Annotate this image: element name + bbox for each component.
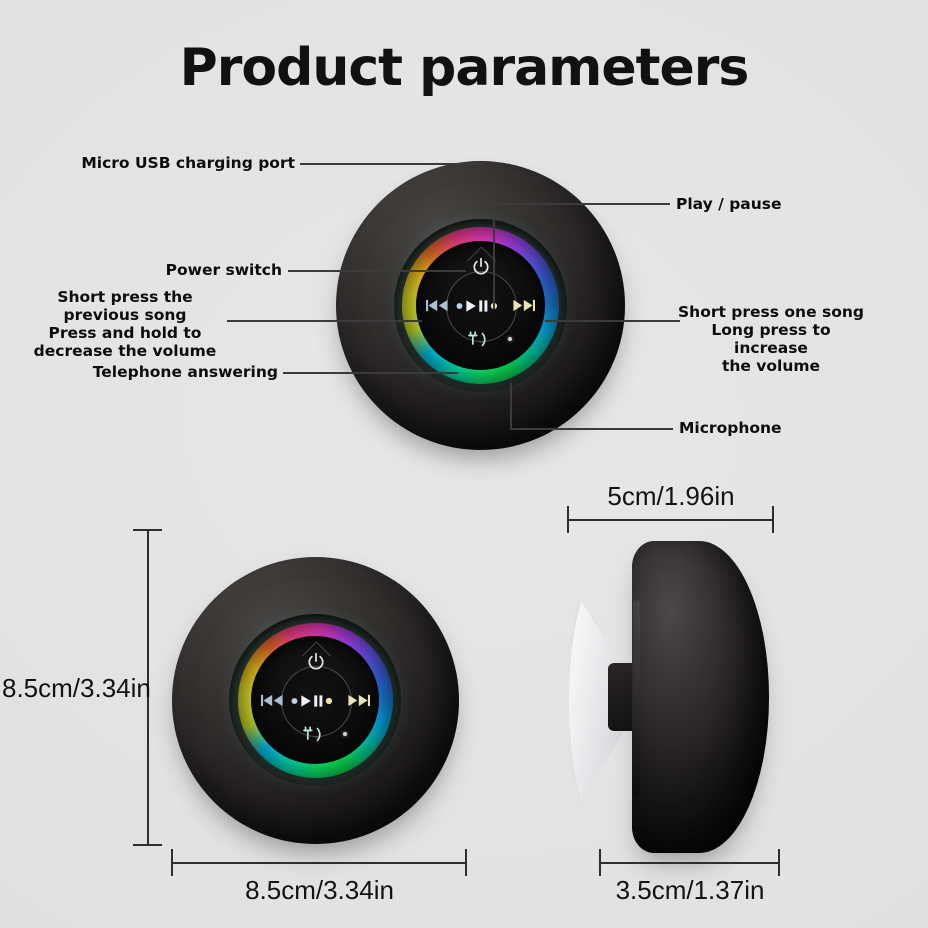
infographic-canvas: Product parameters — [0, 0, 928, 928]
callout-microphone: Microphone — [679, 419, 859, 437]
previous-track-icon[interactable] — [425, 295, 451, 316]
leader-previous-song — [227, 320, 422, 322]
speaker-front-bottom — [172, 557, 459, 844]
leader-power-switch — [288, 270, 466, 272]
dimension-cap-side-depth-left — [599, 849, 601, 876]
dimension-label-side-height: 5cm/1.96in — [568, 481, 774, 512]
previous-track-icon-bottom[interactable] — [260, 690, 286, 711]
callout-play-pause: Play / pause — [676, 195, 876, 213]
leader-next-song — [545, 320, 680, 322]
power-icon[interactable] — [467, 253, 494, 280]
dimension-cap-front-height-top — [133, 529, 162, 531]
dimension-label-front-width: 8.5cm/3.34in — [172, 875, 467, 906]
leader-micro-usb — [300, 163, 485, 165]
callout-power-switch: Power switch — [30, 261, 282, 279]
dimension-cap-front-width-left — [171, 849, 173, 876]
next-track-icon[interactable] — [510, 295, 536, 316]
dimension-cap-front-height-bottom — [133, 844, 162, 846]
answer-call-icon[interactable] — [464, 327, 498, 351]
callout-micro-usb: Micro USB charging port — [30, 154, 295, 172]
callout-previous-song: Short press the previous song Press and … — [25, 288, 225, 361]
callout-telephone-answering: Telephone answering — [30, 363, 278, 381]
dimension-cap-side-depth-right — [778, 849, 780, 876]
play-pause-icon[interactable] — [454, 297, 507, 314]
dimension-line-side-height — [568, 519, 774, 521]
leader-microphone-v — [510, 383, 512, 428]
dimension-line-side-depth — [600, 862, 780, 864]
leader-telephone — [283, 372, 458, 374]
dimension-label-front-height: 8.5cm/3.34in — [2, 673, 151, 704]
leader-microphone-h — [510, 428, 673, 430]
speaker-side-body — [632, 541, 769, 853]
leader-play-pause-v — [493, 203, 495, 309]
answer-call-icon-bottom[interactable] — [299, 722, 333, 746]
dimension-line-front-width — [172, 862, 467, 864]
next-track-icon-bottom[interactable] — [345, 690, 371, 711]
page-title: Product parameters — [0, 40, 928, 97]
dimension-label-side-depth: 3.5cm/1.37in — [600, 875, 780, 906]
leader-play-pause-h — [493, 203, 670, 205]
callout-next-song: Short press one song Long press to incre… — [676, 303, 866, 376]
play-pause-icon-bottom[interactable] — [289, 692, 342, 709]
dimension-cap-front-width-right — [465, 849, 467, 876]
power-icon-bottom[interactable] — [302, 648, 329, 675]
speaker-side-seam — [633, 600, 640, 796]
